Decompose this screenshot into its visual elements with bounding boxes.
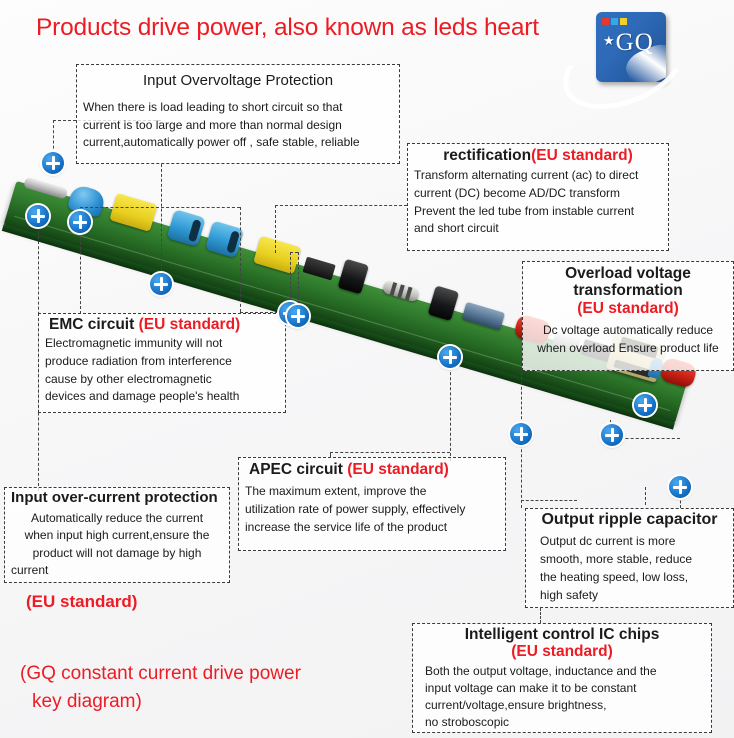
callout-rectification: rectification(EU standard) Transform alt… xyxy=(407,143,669,251)
callout-overload-voltage-transformation: Overload voltage transformation (EU stan… xyxy=(522,261,734,371)
plus-marker-icon-11[interactable] xyxy=(601,424,623,446)
logo-color-dots xyxy=(602,18,627,25)
callout-line: Prevent the led tube from instable curre… xyxy=(414,203,662,221)
lead-ripple-1 xyxy=(521,434,522,508)
eu-standard-tag: (EU standard) xyxy=(347,461,449,478)
callout-input-over-current-protection: Input over-current protection Automatica… xyxy=(4,487,230,583)
plus-marker-icon-4[interactable] xyxy=(150,273,172,295)
callout-line: and short circuit xyxy=(414,220,662,238)
callout-title-line2: transformation xyxy=(529,282,727,299)
eu-standard-tag: (EU standard) xyxy=(419,643,705,660)
eu-standard-tag: (EU standard) xyxy=(529,300,727,317)
callout-title-text: EMC circuit xyxy=(49,316,139,333)
callout-apec-circuit: APEC circuit (EU standard) The maximum e… xyxy=(238,457,506,551)
component-electrolytic-capacitor-1 xyxy=(337,259,369,295)
product-diagram-page: Products drive power, also known as leds… xyxy=(0,0,734,738)
lead-rect-h2 xyxy=(290,252,298,253)
logo-square: ★GQ xyxy=(596,12,666,82)
component-blue-capacitor-2 xyxy=(205,220,244,258)
lead-apec-1 xyxy=(450,357,451,461)
callout-body: The maximum extent, improve the utilizat… xyxy=(245,482,499,536)
logo-dot-blue xyxy=(611,18,618,25)
callout-line: devices and damage people's health xyxy=(45,388,279,406)
callout-body: When there is load leading to short circ… xyxy=(83,99,393,152)
plus-marker-icon-10[interactable] xyxy=(669,476,691,498)
callout-line: current xyxy=(11,562,223,579)
callout-line: Transform alternating current (ac) to di… xyxy=(414,167,662,185)
callout-body: Both the output voltage, inductance and … xyxy=(425,663,705,731)
callout-title-text: Intelligent control IC chips xyxy=(419,626,705,643)
callout-title-line1: Overload voltage xyxy=(529,265,727,282)
caption-line2: key diagram) xyxy=(32,688,301,716)
callout-line: current/voltage,ensure brightness, xyxy=(425,697,705,714)
callout-line: Electromagnetic immunity will not xyxy=(45,335,279,353)
callout-line: the heating speed, low loss, xyxy=(540,568,727,586)
callout-line: When there is load leading to short circ… xyxy=(83,99,393,117)
callout-title: APEC circuit (EU standard) xyxy=(249,461,499,478)
lead-emc-2 xyxy=(240,207,241,312)
plus-marker-icon-7[interactable] xyxy=(439,346,461,368)
lead-input-overvoltage-2 xyxy=(161,164,162,286)
callout-title-text: rectification xyxy=(443,147,531,164)
callout-line: utilization rate of power supply, effect… xyxy=(245,500,499,518)
callout-title: EMC circuit (EU standard) xyxy=(49,316,279,333)
eu-standard-tag: (EU standard) xyxy=(139,316,241,333)
eu-standard-tag-input-over-current: (EU standard) xyxy=(26,592,137,612)
plus-marker-icon-6[interactable] xyxy=(287,305,309,327)
gq-logo: ★GQ xyxy=(588,8,670,88)
callout-body: Automatically reduce the current when in… xyxy=(11,510,223,580)
callout-line: product will not damage by high xyxy=(11,545,223,562)
callout-line: The maximum extent, improve the xyxy=(245,482,499,500)
eu-standard-tag: (EU standard) xyxy=(531,147,633,164)
callout-line: cause by other electromagnetic xyxy=(45,371,279,389)
callout-line: when input high current,ensure the xyxy=(11,527,223,544)
component-inductor xyxy=(382,280,420,303)
callout-intelligent-control-ic-chips: Intelligent control IC chips (EU standar… xyxy=(412,623,712,733)
logo-star-icon: ★ xyxy=(603,33,616,48)
caption-line1: (GQ constant current drive power xyxy=(20,660,301,688)
plus-marker-icon-9[interactable] xyxy=(634,394,656,416)
component-film-capacitor-2 xyxy=(253,236,301,275)
plus-marker-icon-1[interactable] xyxy=(42,152,64,174)
component-electrolytic-capacitor-2 xyxy=(428,285,460,321)
callout-line: Automatically reduce the current xyxy=(11,510,223,527)
callout-line: Dc voltage automatically reduce xyxy=(529,321,727,339)
diagram-caption: (GQ constant current drive power key dia… xyxy=(20,660,301,715)
callout-line: current,automatically power off , safe s… xyxy=(83,134,393,152)
callout-title: Input Overvoltage Protection xyxy=(83,72,393,89)
callout-title: Input over-current protection xyxy=(11,490,223,507)
lead-emc-h xyxy=(80,207,240,208)
component-apec-capacitor xyxy=(462,302,505,331)
callout-line: high safety xyxy=(540,586,727,604)
component-blue-capacitor-1 xyxy=(167,209,206,247)
callout-body: Output dc current is more smooth, more s… xyxy=(540,532,727,604)
plus-marker-icon-3[interactable] xyxy=(69,211,91,233)
lead-rect-h xyxy=(275,205,407,206)
callout-body: Electromagnetic immunity will not produc… xyxy=(45,335,279,406)
callout-emc-circuit: EMC circuit (EU standard) Electromagneti… xyxy=(38,313,286,413)
callout-line: current (DC) become AD/DC transform xyxy=(414,185,662,203)
callout-line: Output dc current is more xyxy=(540,532,727,550)
callout-title-text: APEC circuit xyxy=(249,461,347,478)
lead-ripple-h xyxy=(521,500,577,501)
logo-dot-red xyxy=(602,18,609,25)
lead-ic-1 xyxy=(540,608,541,623)
component-film-capacitor-1 xyxy=(109,193,157,232)
lead-apec-h xyxy=(330,452,450,453)
callout-line: current is too large and more than norma… xyxy=(83,117,393,135)
callout-input-overvoltage-protection: Input Overvoltage Protection When there … xyxy=(76,64,400,164)
plus-marker-icon-8[interactable] xyxy=(510,423,532,445)
callout-line: when overload Ensure product life xyxy=(529,339,727,357)
lead-rect-1 xyxy=(275,205,276,253)
callout-body: Dc voltage automatically reduce when ove… xyxy=(529,321,727,357)
callout-line: increase the service life of the product xyxy=(245,518,499,536)
callout-title: Output ripple capacitor xyxy=(532,511,727,529)
callout-body: Transform alternating current (ac) to di… xyxy=(414,167,662,238)
callout-line: no stroboscopic xyxy=(425,714,705,731)
callout-title: Overload voltage transformation (EU stan… xyxy=(529,265,727,317)
callout-title: rectification(EU standard) xyxy=(414,147,662,164)
callout-line: input voltage can make it to be constant xyxy=(425,680,705,697)
callout-line: produce radiation from interference xyxy=(45,353,279,371)
component-fuse xyxy=(23,177,68,200)
callout-line: Both the output voltage, inductance and … xyxy=(425,663,705,680)
component-bridge-rectifier xyxy=(302,257,335,281)
page-title: Products drive power, also known as leds… xyxy=(36,14,539,42)
callout-line: smooth, more stable, reduce xyxy=(540,550,727,568)
lead-emc-1 xyxy=(80,222,81,314)
lead-ic-2 xyxy=(645,487,646,505)
logo-dot-yellow xyxy=(620,18,627,25)
callout-output-ripple-capacitor: Output ripple capacitor Output dc curren… xyxy=(525,508,734,608)
plus-marker-icon-2[interactable] xyxy=(27,205,49,227)
callout-title: Intelligent control IC chips (EU standar… xyxy=(419,626,705,660)
